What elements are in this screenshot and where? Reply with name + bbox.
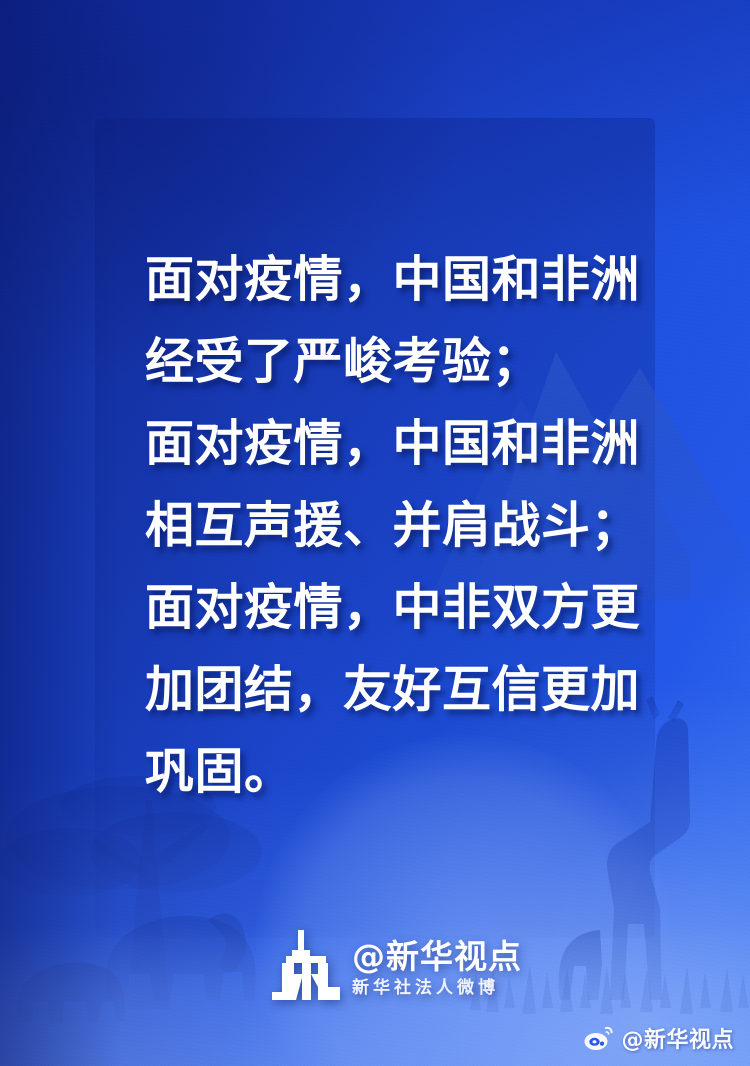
headline-line-2: 经受了严峻考验；	[145, 320, 645, 402]
xinhua-logo-mark-icon	[272, 930, 340, 1000]
weibo-watermark-text: @新华视点	[621, 1022, 734, 1054]
xinhua-logo-subtitle: 新华社法人微博	[352, 980, 522, 997]
headline-line-1: 面对疫情，中国和非洲	[145, 238, 645, 320]
xinhua-logo-title: @新华视点	[352, 940, 522, 973]
headline-block: 面对疫情，中国和非洲 经受了严峻考验； 面对疫情，中国和非洲 相互声援、并肩战斗…	[145, 238, 645, 812]
weibo-icon	[584, 1025, 614, 1051]
xinhua-logo-block: @新华视点 新华社法人微博	[272, 930, 522, 1000]
headline-line-3: 面对疫情，中国和非洲	[145, 402, 645, 484]
xinhua-logo-words: @新华视点 新华社法人微博	[352, 940, 522, 1000]
poster-canvas: 面对疫情，中国和非洲 经受了严峻考验； 面对疫情，中国和非洲 相互声援、并肩战斗…	[0, 0, 750, 1066]
headline-line-4: 相互声援、并肩战斗；	[145, 484, 645, 566]
weibo-watermark: @新华视点	[584, 1022, 734, 1054]
headline-line-7: 巩固。	[145, 730, 645, 812]
headline-line-6: 加团结，友好互信更加	[145, 648, 645, 730]
headline-line-5: 面对疫情，中非双方更	[145, 566, 645, 648]
